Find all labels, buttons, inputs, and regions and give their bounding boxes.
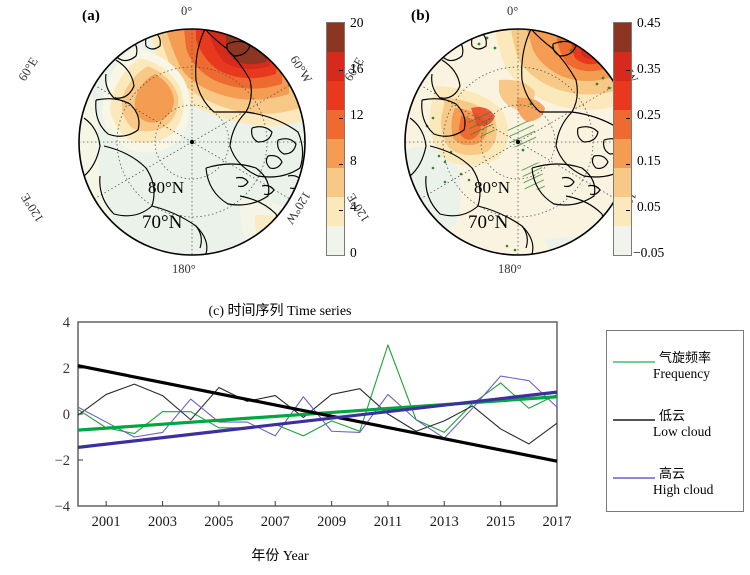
svg-text:2013: 2013: [430, 514, 459, 530]
cb-b-mark-035: [626, 70, 630, 71]
legend-label-low-cloud: 低云 Low cloud: [659, 409, 711, 439]
cb-a-mark-8: [339, 164, 343, 165]
svg-text:2001: 2001: [92, 514, 121, 530]
legend-item-high-cloud[interactable]: 高云 High cloud: [607, 467, 745, 507]
cb-a-seg-3: [327, 110, 344, 139]
panel-a-map: [0, 0, 375, 290]
panel-b: (b) 0° 60°W 120°W 180° 120°E 60°E: [375, 0, 750, 290]
legend-label-low-cloud-en: Low cloud: [653, 424, 711, 439]
cb-b-tick-neg005: −0.05: [633, 245, 664, 261]
cb-b-tick-005: 0.05: [637, 199, 661, 215]
svg-text:2017: 2017: [543, 514, 572, 530]
panel-a-lat-80: 80°N: [148, 178, 184, 198]
legend-swatch-high-cloud: [613, 477, 655, 479]
panel-b-map: [375, 0, 750, 290]
panel-b-lat-70: 70°N: [468, 212, 508, 234]
legend-swatch-frequency: [613, 361, 655, 363]
cb-b-seg-0: [614, 23, 631, 52]
svg-text:2009: 2009: [317, 514, 346, 530]
cb-a-seg-7: [327, 226, 344, 255]
svg-text:2007: 2007: [261, 514, 290, 530]
cb-b-tick-015: 0.15: [637, 153, 661, 169]
svg-text:2011: 2011: [374, 514, 402, 530]
svg-text:4: 4: [63, 315, 71, 331]
timeseries-plot: 420−2−4200120032005200720092011201320152…: [0, 310, 600, 570]
cb-b-tick-025: 0.25: [637, 107, 661, 123]
cb-b-tick-035: 0.35: [637, 61, 661, 77]
figure-root: (a) 0° 60°W 120°W 180° 120°E 60°E: [0, 0, 750, 575]
legend-swatch-low-cloud: [613, 419, 655, 421]
cb-a-mark-12: [339, 118, 343, 119]
legend-label-high-cloud-en: High cloud: [653, 482, 713, 497]
cb-a-seg-2: [327, 81, 344, 110]
panel-b-colorbar: [613, 22, 632, 256]
cb-b-mark-005: [626, 210, 630, 211]
cb-b-mark-025: [626, 118, 630, 119]
svg-text:2003: 2003: [148, 514, 177, 530]
cb-b-seg-7: [614, 226, 631, 255]
svg-text:2005: 2005: [204, 514, 233, 530]
legend-item-frequency[interactable]: 气旋频率 Frequency: [607, 351, 745, 391]
cb-a-seg-0: [327, 23, 344, 52]
cb-a-tick-0: 0: [350, 245, 357, 261]
cb-b-seg-5: [614, 168, 631, 197]
timeseries-legend: 气旋频率 Frequency 低云 Low cloud 高云 High clou…: [606, 330, 744, 512]
legend-label-high-cloud: 高云 High cloud: [659, 467, 713, 497]
legend-label-frequency-en: Frequency: [653, 366, 711, 381]
svg-text:2015: 2015: [486, 514, 515, 530]
legend-label-high-cloud-cn: 高云: [659, 467, 713, 482]
cb-b-seg-3: [614, 110, 631, 139]
cb-b-seg-1: [614, 52, 631, 81]
cb-b-seg-2: [614, 81, 631, 110]
panel-c-timeseries: (c) 时间序列 Time series 年份 Year 420−2−42001…: [0, 290, 750, 575]
cb-b-tick-045: 0.45: [637, 15, 661, 31]
cb-a-seg-6: [327, 197, 344, 226]
legend-label-frequency-cn: 气旋频率: [659, 351, 711, 366]
legend-item-low-cloud[interactable]: 低云 Low cloud: [607, 409, 745, 449]
svg-text:0: 0: [63, 407, 70, 423]
svg-text:2: 2: [63, 361, 70, 377]
cb-a-mark-4: [339, 210, 343, 211]
panel-b-lat-80: 80°N: [474, 178, 510, 198]
cb-b-seg-6: [614, 197, 631, 226]
panel-a-colorbar: [326, 22, 345, 256]
svg-text:−2: −2: [55, 453, 70, 469]
cb-b-mark-015: [626, 164, 630, 165]
panel-a: (a) 0° 60°W 120°W 180° 120°E 60°E: [0, 0, 375, 290]
cb-a-seg-5: [327, 168, 344, 197]
cb-a-tick-12: 12: [350, 107, 364, 123]
cb-a-tick-20: 20: [350, 15, 364, 31]
cb-a-mark-16: [339, 70, 343, 71]
legend-label-low-cloud-cn: 低云: [659, 409, 711, 424]
legend-label-frequency: 气旋频率 Frequency: [659, 351, 711, 381]
panel-a-lat-70: 70°N: [142, 212, 182, 234]
svg-text:−4: −4: [55, 499, 71, 515]
cb-a-tick-8: 8: [350, 153, 357, 169]
